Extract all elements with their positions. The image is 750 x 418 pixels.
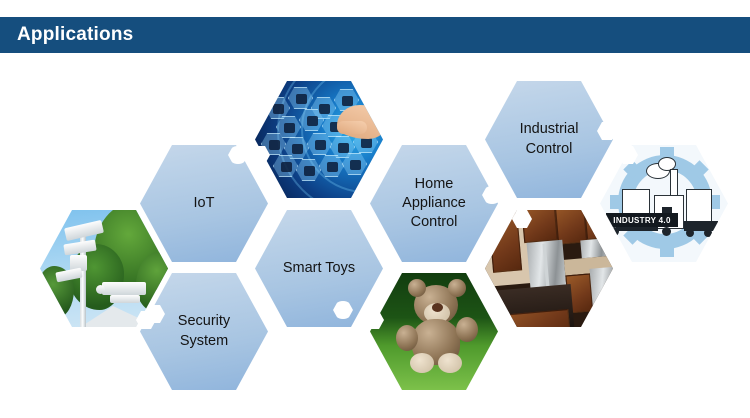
kitchen-appliance-image: [485, 210, 613, 327]
teddy-bear-image: [370, 273, 498, 390]
page-header-bar: Applications: [0, 17, 750, 53]
hex-industrial-control-label: Industrial Control: [512, 120, 587, 158]
hex-cell-industry40-photo[interactable]: INDUSTRY 4.0: [598, 143, 730, 264]
hex-cell-industrial-control[interactable]: Industrial Control: [483, 79, 615, 200]
hex-cell-iot[interactable]: IoT: [138, 143, 270, 264]
hex-smart-toys-label: Smart Toys: [275, 259, 363, 278]
hex-cell-smart-toys[interactable]: Smart Toys: [253, 208, 385, 329]
hex-security-system-label: Security System: [170, 312, 238, 350]
hex-cell-teddy-bear-photo[interactable]: [368, 271, 500, 392]
hex-home-appliance-control-label: Home Appliance Control: [394, 175, 474, 232]
honeycomb-diagram: IoT Security System: [0, 53, 750, 418]
hex-security-system: Security System: [140, 273, 268, 390]
hex-smart-toys: Smart Toys: [255, 210, 383, 327]
industry-4-0-emblem: INDUSTRY 4.0: [600, 145, 728, 262]
industry-4-0-banner: INDUSTRY 4.0: [606, 213, 678, 227]
hex-cell-home-appliance-control[interactable]: Home Appliance Control: [368, 143, 500, 264]
hex-cell-kitchen-photo[interactable]: [483, 208, 615, 329]
hex-iot: IoT: [140, 145, 268, 262]
industry-4-0-caption: INDUSTRY 4.0: [613, 216, 670, 225]
hex-cell-iot-network-photo[interactable]: [253, 79, 385, 200]
hex-industrial-control: Industrial Control: [485, 81, 613, 198]
hex-home-appliance-control: Home Appliance Control: [370, 145, 498, 262]
hex-iot-label: IoT: [186, 194, 223, 213]
iot-network-image: [255, 81, 383, 198]
page-title: Applications: [0, 24, 133, 46]
